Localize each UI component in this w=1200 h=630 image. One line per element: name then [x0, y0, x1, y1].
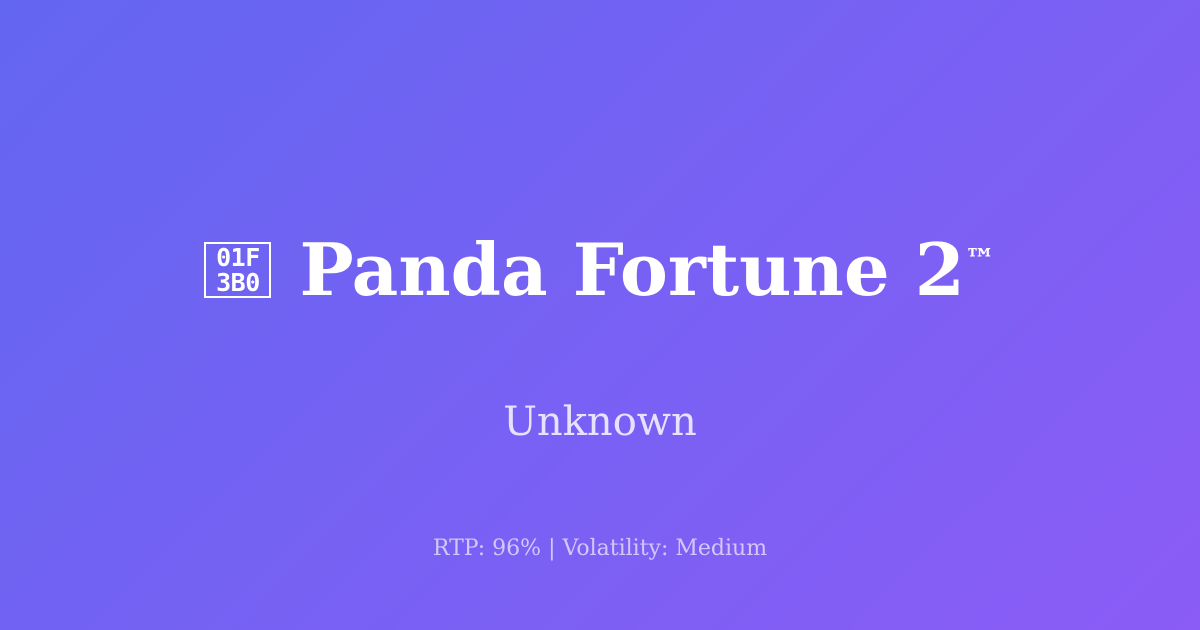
game-stats-footer: RTP: 96% | Volatility: Medium — [0, 535, 1200, 564]
page-title-text: Panda Fortune 2 — [299, 227, 964, 312]
page-subtitle: Unknown — [503, 398, 697, 446]
tofu-codepoint-top: 01F — [216, 245, 260, 270]
slot-machine-emoji-icon: 01F 3B0 — [204, 242, 271, 298]
tofu-codepoint-bottom: 3B0 — [216, 270, 260, 295]
trademark-symbol: ™ — [965, 243, 996, 278]
page-title: Panda Fortune 2™ — [299, 232, 995, 308]
og-card: 01F 3B0 Panda Fortune 2™ Unknown RTP: 96… — [0, 0, 1200, 630]
title-row: 01F 3B0 Panda Fortune 2™ — [0, 184, 1200, 356]
